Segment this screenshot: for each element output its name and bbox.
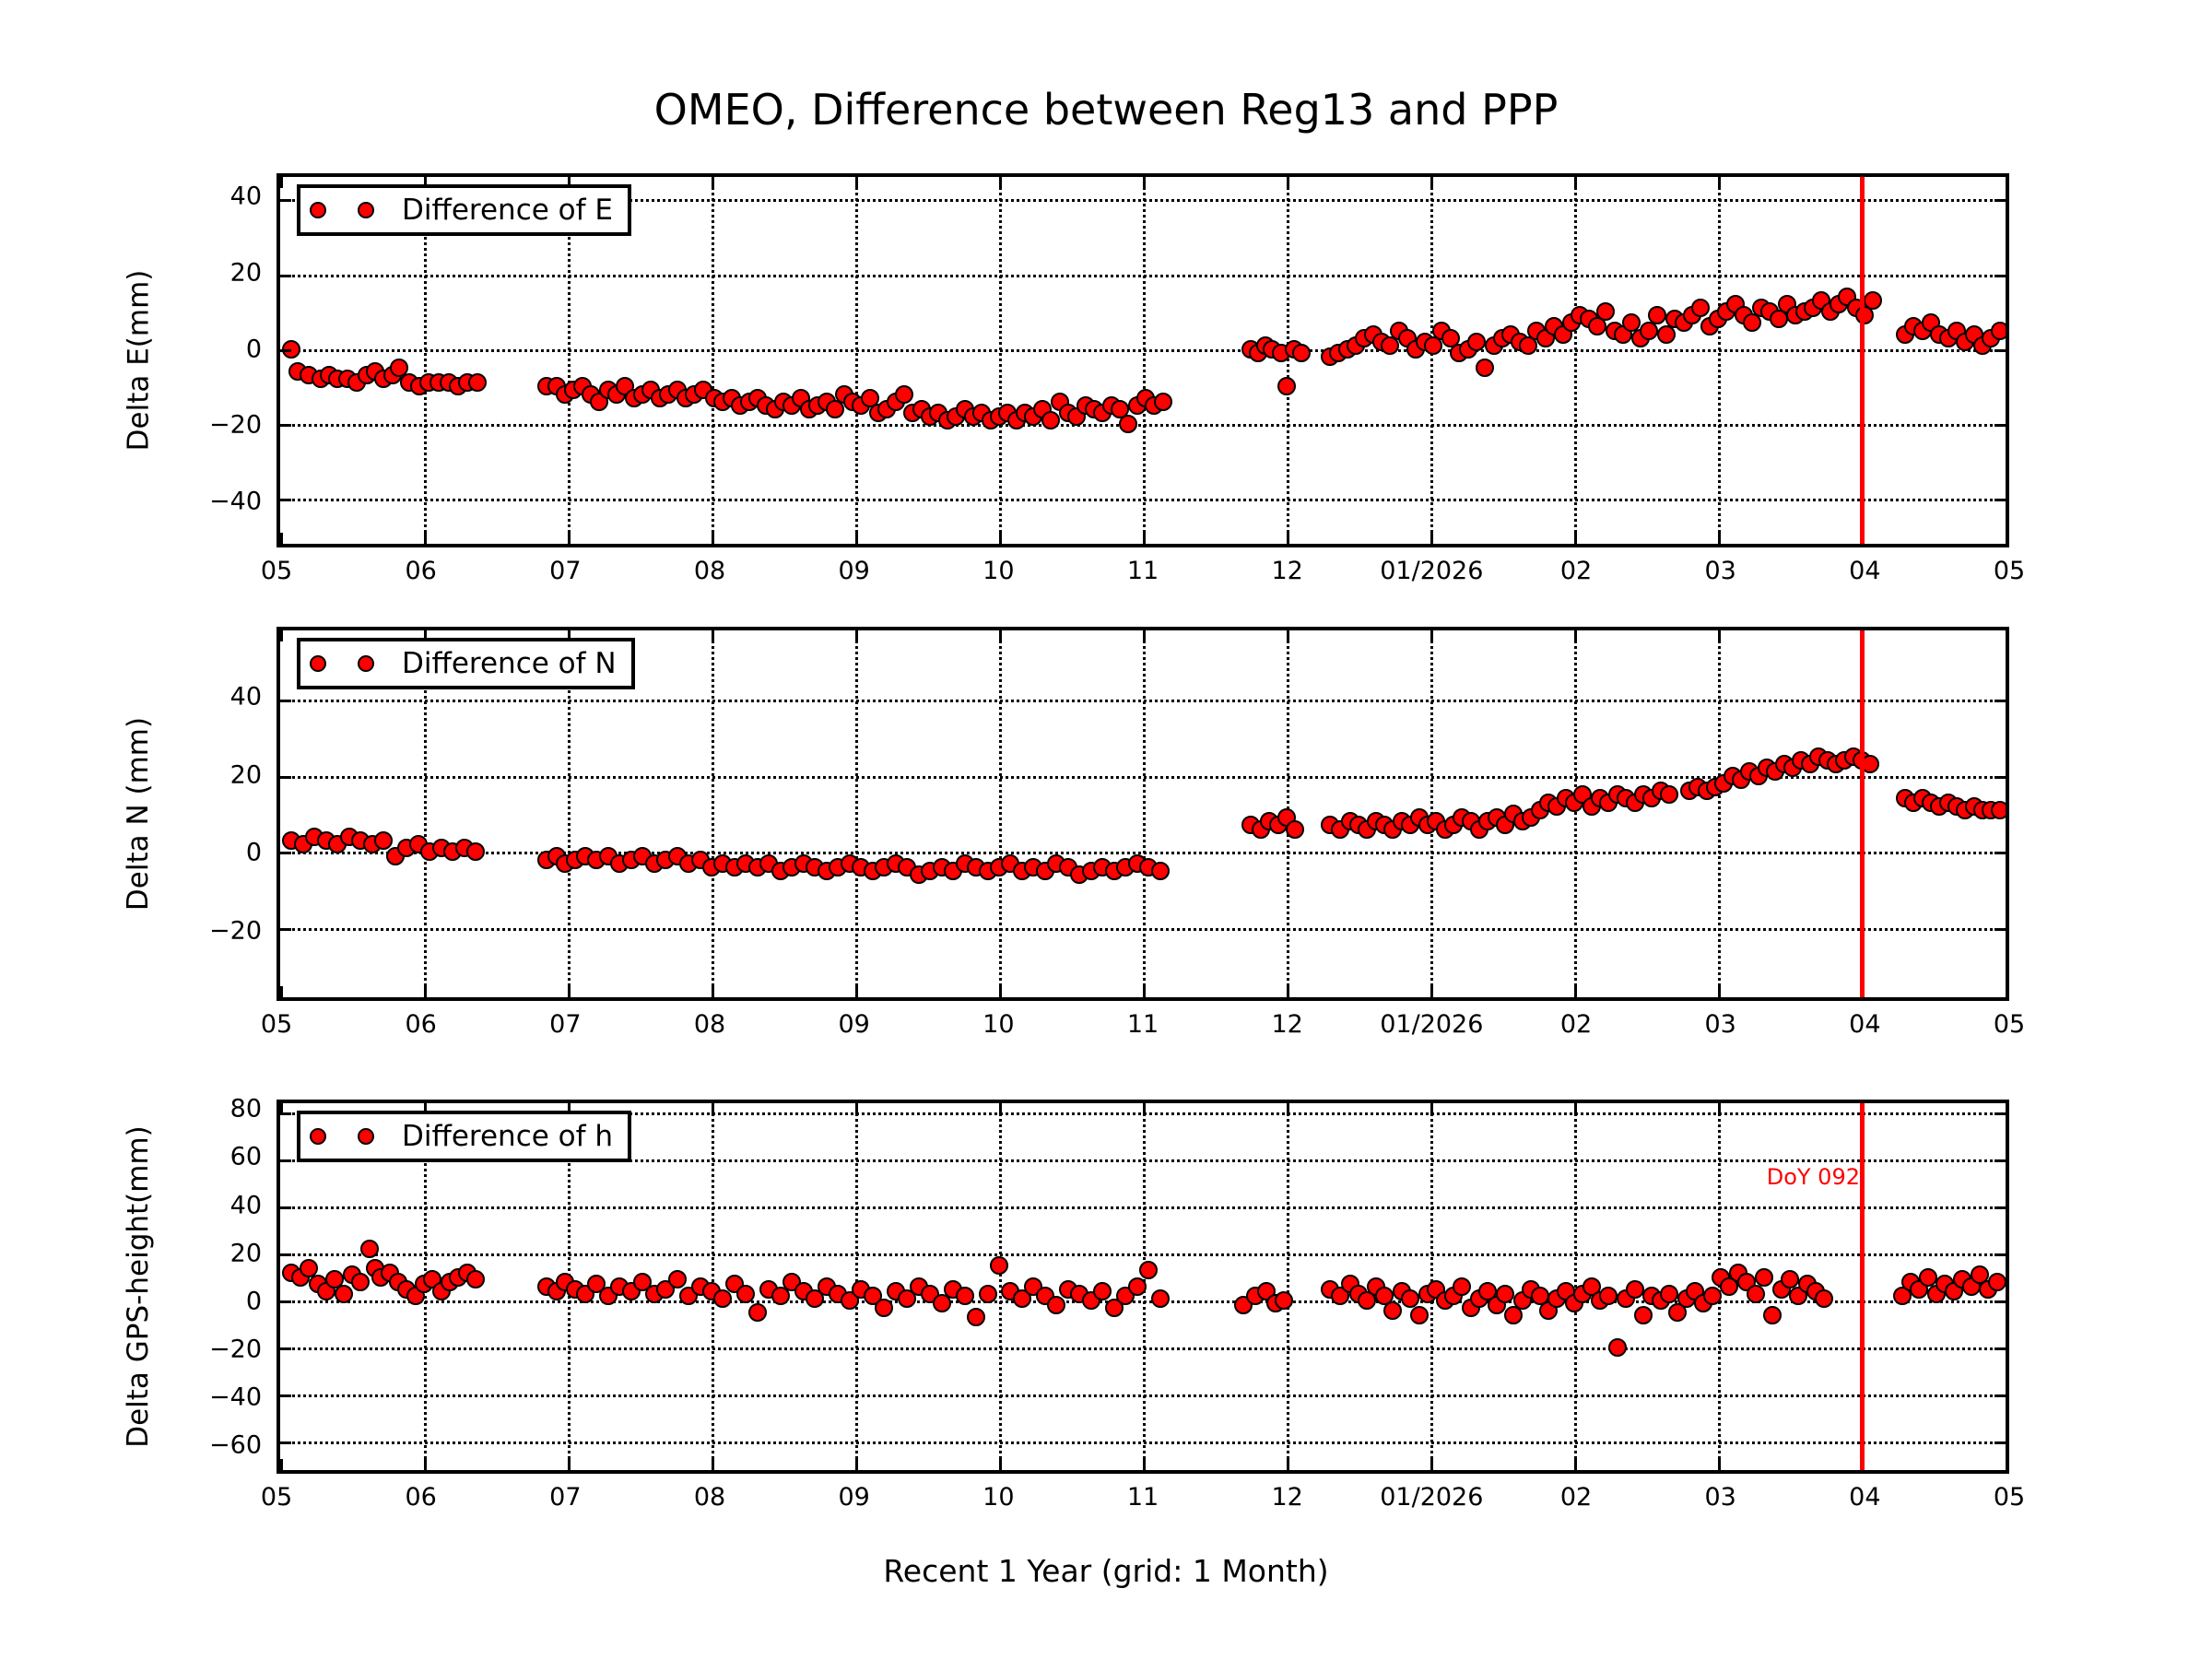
data-point bbox=[979, 1285, 997, 1303]
x-tick-label: 05 bbox=[261, 1010, 292, 1039]
x-tick-mark bbox=[1430, 533, 1433, 546]
x-tick-mark bbox=[1430, 986, 1433, 999]
data-point bbox=[1410, 1306, 1429, 1324]
x-tick-label: 03 bbox=[1704, 1483, 1735, 1512]
legend-delta-n: Difference of N bbox=[297, 638, 635, 689]
x-tick-mark bbox=[1718, 533, 1721, 546]
data-point bbox=[1815, 1289, 1833, 1308]
x-tick-label: 12 bbox=[1271, 1483, 1302, 1512]
data-point bbox=[466, 1270, 485, 1288]
x-tick-label: 07 bbox=[549, 557, 581, 585]
y-tick-label: 60 bbox=[230, 1143, 262, 1171]
y-tick-mark bbox=[278, 700, 291, 702]
y-tick-mark bbox=[278, 1394, 291, 1397]
data-point bbox=[1041, 411, 1060, 429]
legend-marker-icon bbox=[310, 202, 326, 218]
y-tick-mark bbox=[1994, 1300, 2007, 1303]
x-tick-label: 05 bbox=[1994, 1483, 2025, 1512]
data-point bbox=[748, 1303, 767, 1322]
x-tick-label: 08 bbox=[694, 1483, 725, 1512]
data-point bbox=[1763, 1306, 1782, 1324]
x-tick-label: 02 bbox=[1560, 1010, 1592, 1039]
data-point bbox=[1755, 1268, 1773, 1287]
x-tick-mark bbox=[855, 1101, 858, 1114]
x-tick-mark bbox=[280, 986, 283, 999]
data-point bbox=[360, 1240, 379, 1258]
x-tick-mark bbox=[712, 629, 714, 641]
legend-marker-icon bbox=[358, 655, 374, 672]
x-tick-mark bbox=[1574, 1101, 1577, 1114]
subplot-delta-e: 40200−20−40 050607080910111201/202602030… bbox=[276, 173, 2009, 547]
x-tick-label: 07 bbox=[549, 1483, 581, 1512]
x-tick-label: 04 bbox=[1849, 557, 1880, 585]
y-tick-labels-delta-height: 806040200−20−40−60 bbox=[175, 1100, 276, 1474]
x-tick-label: 05 bbox=[261, 1483, 292, 1512]
x-tick-mark bbox=[280, 533, 283, 546]
data-point bbox=[1608, 1338, 1627, 1357]
y-tick-label: −20 bbox=[209, 411, 262, 440]
x-tick-mark bbox=[999, 1101, 1002, 1114]
data-point bbox=[1988, 1273, 2006, 1291]
x-tick-mark bbox=[1718, 629, 1721, 641]
x-tick-mark bbox=[712, 533, 714, 546]
y-tick-labels-delta-e: 40200−20−40 bbox=[175, 173, 276, 547]
data-point bbox=[466, 842, 485, 861]
x-tick-mark bbox=[1430, 1459, 1433, 1472]
data-point bbox=[1476, 359, 1494, 377]
y-tick-mark bbox=[1994, 928, 2007, 931]
x-tick-mark bbox=[1287, 533, 1289, 546]
data-point bbox=[468, 373, 487, 392]
y-tick-mark bbox=[278, 1347, 291, 1350]
data-point bbox=[1660, 1285, 1678, 1303]
x-tick-mark bbox=[424, 533, 427, 546]
x-tick-mark bbox=[280, 1459, 283, 1472]
x-tick-mark bbox=[2006, 629, 2008, 641]
data-point bbox=[895, 385, 913, 404]
y-tick-label: 0 bbox=[246, 1287, 262, 1315]
x-tick-mark bbox=[855, 629, 858, 641]
x-tick-label: 12 bbox=[1271, 557, 1302, 585]
data-point bbox=[1648, 306, 1666, 324]
x-tick-mark bbox=[999, 175, 1002, 188]
x-tick-label: 11 bbox=[1127, 557, 1159, 585]
x-tick-label: 11 bbox=[1127, 1483, 1159, 1512]
x-tick-mark bbox=[712, 1101, 714, 1114]
doy-annotation-label: DoY 092 bbox=[1767, 1164, 1860, 1190]
x-tick-mark bbox=[1287, 1459, 1289, 1472]
figure-root: OMEO, Difference between Reg13 and PPP 4… bbox=[0, 0, 2212, 1659]
doy-marker-line-delta-height bbox=[1860, 1103, 1865, 1470]
y-tick-label: 80 bbox=[230, 1095, 262, 1124]
data-point bbox=[1467, 333, 1486, 351]
doy-marker-line-delta-e bbox=[1860, 177, 1865, 544]
x-tick-label: 09 bbox=[838, 1010, 869, 1039]
data-point bbox=[990, 1256, 1008, 1275]
x-tick-label: 06 bbox=[405, 1010, 436, 1039]
x-tick-mark bbox=[855, 533, 858, 546]
x-tick-label: 02 bbox=[1560, 557, 1592, 585]
subplot-delta-height: DoY 092 806040200−20−40−60 0506070809101… bbox=[276, 1100, 2009, 1474]
data-point bbox=[1139, 1261, 1158, 1279]
x-tick-label: 03 bbox=[1704, 557, 1735, 585]
x-tick-mark bbox=[1574, 533, 1577, 546]
x-tick-mark bbox=[280, 175, 283, 188]
y-tick-mark bbox=[1994, 1347, 2007, 1350]
x-tick-label: 05 bbox=[1994, 1010, 2025, 1039]
x-tick-mark bbox=[712, 1459, 714, 1472]
x-tick-mark bbox=[855, 986, 858, 999]
x-tick-mark bbox=[999, 533, 1002, 546]
data-point bbox=[1275, 1291, 1293, 1310]
y-tick-label: −40 bbox=[209, 1382, 262, 1411]
y-tick-mark bbox=[278, 499, 291, 501]
legend-marker-icon bbox=[310, 1128, 326, 1145]
subplot-delta-n: 40200−20 050607080910111201/202602030405… bbox=[276, 627, 2009, 1001]
x-tick-mark bbox=[1143, 1101, 1146, 1114]
y-tick-mark bbox=[1994, 776, 2007, 779]
figure-title: OMEO, Difference between Reg13 and PPP bbox=[0, 85, 2212, 135]
y-tick-mark bbox=[1994, 1441, 2007, 1444]
data-point bbox=[1154, 393, 1172, 411]
x-tick-mark bbox=[712, 175, 714, 188]
legend-label-delta-e: Difference of E bbox=[402, 194, 613, 227]
data-point bbox=[1093, 1282, 1112, 1300]
x-tick-mark bbox=[2006, 175, 2008, 188]
data-point bbox=[668, 1270, 687, 1288]
x-tick-mark bbox=[1718, 1101, 1721, 1114]
x-tick-mark bbox=[1718, 175, 1721, 188]
data-point bbox=[956, 1287, 974, 1305]
legend-marker-icon bbox=[358, 202, 374, 218]
x-tick-label: 07 bbox=[549, 1010, 581, 1039]
x-tick-label: 08 bbox=[694, 1010, 725, 1039]
y-tick-mark bbox=[1994, 499, 2007, 501]
y-tick-mark bbox=[278, 1112, 291, 1115]
legend-marker-icon bbox=[358, 1128, 374, 1145]
x-tick-mark bbox=[855, 175, 858, 188]
x-tick-label: 06 bbox=[405, 1483, 436, 1512]
x-tick-label: 03 bbox=[1704, 1010, 1735, 1039]
data-point bbox=[1991, 322, 2006, 340]
y-tick-label: 0 bbox=[246, 839, 262, 867]
legend-marker-icon bbox=[310, 655, 326, 672]
y-tick-mark bbox=[1994, 1253, 2007, 1256]
x-tick-mark bbox=[712, 986, 714, 999]
x-tick-mark bbox=[1287, 629, 1289, 641]
legend-delta-e: Difference of E bbox=[297, 184, 631, 236]
y-tick-label: −20 bbox=[209, 1335, 262, 1363]
x-tick-mark bbox=[1574, 986, 1577, 999]
doy-marker-line-delta-n bbox=[1860, 630, 1865, 997]
data-point bbox=[1292, 344, 1311, 362]
x-tick-label: 08 bbox=[694, 557, 725, 585]
y-tick-label: 20 bbox=[230, 1239, 262, 1267]
data-point bbox=[1128, 1277, 1147, 1296]
y-tick-label: −60 bbox=[209, 1430, 262, 1459]
x-tick-mark bbox=[1430, 175, 1433, 188]
data-point bbox=[875, 1299, 893, 1317]
y-tick-mark bbox=[278, 349, 291, 352]
data-point bbox=[736, 1285, 755, 1303]
x-tick-mark bbox=[1718, 1459, 1721, 1472]
y-tick-mark bbox=[278, 1300, 291, 1303]
data-point bbox=[1286, 820, 1304, 839]
data-point bbox=[1119, 415, 1137, 433]
x-tick-label: 04 bbox=[1849, 1010, 1880, 1039]
x-tick-mark bbox=[1574, 1459, 1577, 1472]
x-tick-label: 01/2026 bbox=[1380, 557, 1483, 585]
y-tick-mark bbox=[278, 928, 291, 931]
x-axis-title: Recent 1 Year (grid: 1 Month) bbox=[0, 1553, 2212, 1589]
x-tick-label: 10 bbox=[982, 1483, 1014, 1512]
x-tick-labels-delta-n: 050607080910111201/202602030405 bbox=[276, 1001, 2009, 1045]
y-tick-mark bbox=[278, 424, 291, 427]
y-tick-mark bbox=[1994, 199, 2007, 202]
y-axis-title-delta-n: Delta N (mm) bbox=[122, 717, 155, 911]
x-tick-label: 04 bbox=[1849, 1483, 1880, 1512]
y-tick-mark bbox=[1994, 349, 2007, 352]
legend-label-delta-height: Difference of h bbox=[402, 1120, 613, 1153]
y-tick-mark bbox=[1994, 1394, 2007, 1397]
y-tick-mark bbox=[278, 1253, 291, 1256]
y-tick-mark bbox=[1994, 1112, 2007, 1115]
data-point bbox=[1151, 862, 1170, 880]
data-point bbox=[1496, 1285, 1514, 1303]
x-tick-labels-delta-e: 050607080910111201/202602030405 bbox=[276, 547, 2009, 592]
y-tick-label: 40 bbox=[230, 182, 262, 210]
x-tick-labels-delta-height: 050607080910111201/202602030405 bbox=[276, 1474, 2009, 1518]
legend-label-delta-n: Difference of N bbox=[402, 647, 617, 680]
x-tick-mark bbox=[1143, 629, 1146, 641]
x-tick-mark bbox=[280, 629, 283, 641]
y-tick-label: −20 bbox=[209, 916, 262, 945]
y-tick-mark bbox=[278, 199, 291, 202]
data-point bbox=[351, 1273, 370, 1291]
x-tick-mark bbox=[1574, 629, 1577, 641]
x-tick-mark bbox=[424, 986, 427, 999]
data-point bbox=[1626, 1280, 1644, 1299]
y-tick-mark bbox=[278, 275, 291, 277]
y-tick-mark bbox=[278, 1159, 291, 1162]
data-point bbox=[335, 1285, 353, 1303]
y-tick-label: 0 bbox=[246, 335, 262, 363]
x-tick-mark bbox=[1287, 175, 1289, 188]
y-tick-label: 40 bbox=[230, 683, 262, 712]
y-tick-mark bbox=[1994, 700, 2007, 702]
x-tick-mark bbox=[999, 986, 1002, 999]
y-tick-mark bbox=[278, 852, 291, 854]
data-point bbox=[1151, 1289, 1170, 1308]
data-point bbox=[1383, 1301, 1402, 1320]
data-point bbox=[1047, 1296, 1065, 1314]
x-tick-mark bbox=[2006, 1459, 2008, 1472]
x-tick-label: 05 bbox=[1994, 557, 2025, 585]
x-tick-label: 10 bbox=[982, 557, 1014, 585]
x-tick-mark bbox=[855, 1459, 858, 1472]
x-tick-mark bbox=[999, 629, 1002, 641]
y-tick-mark bbox=[1994, 1206, 2007, 1209]
y-tick-label: −40 bbox=[209, 488, 262, 516]
data-point bbox=[1691, 299, 1710, 317]
data-point bbox=[1634, 1306, 1653, 1324]
data-point bbox=[1703, 1287, 1722, 1305]
y-tick-mark bbox=[1994, 1159, 2007, 1162]
x-tick-mark bbox=[999, 1459, 1002, 1472]
data-point bbox=[1660, 785, 1678, 804]
x-tick-mark bbox=[1287, 1101, 1289, 1114]
x-tick-mark bbox=[568, 1459, 571, 1472]
x-tick-mark bbox=[1574, 175, 1577, 188]
data-point bbox=[967, 1308, 985, 1326]
y-tick-mark bbox=[278, 1441, 291, 1444]
data-point bbox=[1596, 302, 1615, 321]
x-tick-label: 06 bbox=[405, 557, 436, 585]
data-point bbox=[1747, 1285, 1765, 1303]
x-tick-label: 11 bbox=[1127, 1010, 1159, 1039]
x-tick-mark bbox=[568, 986, 571, 999]
y-tick-label: 40 bbox=[230, 1191, 262, 1219]
x-tick-mark bbox=[1430, 629, 1433, 641]
x-tick-label: 01/2026 bbox=[1380, 1483, 1483, 1512]
legend-delta-height: Difference of h bbox=[297, 1111, 631, 1162]
x-tick-mark bbox=[1718, 986, 1721, 999]
x-tick-label: 05 bbox=[261, 557, 292, 585]
x-tick-label: 10 bbox=[982, 1010, 1014, 1039]
x-tick-label: 01/2026 bbox=[1380, 1010, 1483, 1039]
y-tick-label: 20 bbox=[230, 760, 262, 789]
x-tick-mark bbox=[1143, 1459, 1146, 1472]
y-axis-title-delta-height: Delta GPS-height(mm) bbox=[122, 1125, 155, 1448]
x-tick-mark bbox=[424, 1459, 427, 1472]
y-tick-mark bbox=[278, 776, 291, 779]
x-tick-mark bbox=[1143, 175, 1146, 188]
x-tick-mark bbox=[1143, 986, 1146, 999]
y-tick-mark bbox=[1994, 424, 2007, 427]
x-tick-mark bbox=[1430, 1101, 1433, 1114]
x-tick-label: 02 bbox=[1560, 1483, 1592, 1512]
x-tick-mark bbox=[1287, 986, 1289, 999]
data-point bbox=[1277, 377, 1296, 395]
y-axis-title-delta-e: Delta E(mm) bbox=[122, 270, 155, 452]
y-tick-mark bbox=[278, 1206, 291, 1209]
data-point bbox=[1453, 1277, 1471, 1296]
x-tick-mark bbox=[2006, 533, 2008, 546]
x-tick-label: 12 bbox=[1271, 1010, 1302, 1039]
x-tick-mark bbox=[568, 533, 571, 546]
data-point bbox=[1599, 1287, 1618, 1305]
y-tick-label: 20 bbox=[230, 258, 262, 287]
data-point bbox=[1991, 801, 2006, 819]
y-tick-mark bbox=[1994, 275, 2007, 277]
data-point bbox=[1864, 291, 1882, 310]
y-tick-mark bbox=[1994, 852, 2007, 854]
x-tick-label: 09 bbox=[838, 557, 869, 585]
x-tick-label: 09 bbox=[838, 1483, 869, 1512]
y-tick-labels-delta-n: 40200−20 bbox=[175, 627, 276, 1001]
x-tick-mark bbox=[1143, 533, 1146, 546]
x-tick-mark bbox=[2006, 986, 2008, 999]
